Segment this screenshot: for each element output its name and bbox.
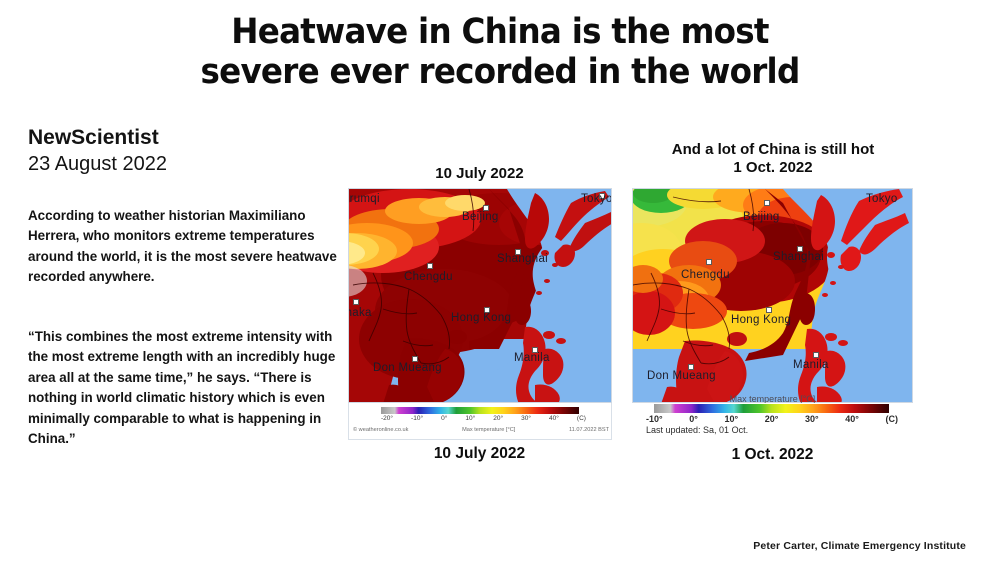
- city-label-hong-kong: Hong Kong: [731, 314, 791, 326]
- scale-tick: 30°: [521, 415, 531, 422]
- city-label-don-mueang: Don Mueang: [373, 362, 442, 374]
- city-label-manila: Manila: [514, 352, 550, 364]
- scale-tick: 0°: [441, 415, 447, 422]
- scale-tick: 10°: [465, 415, 475, 422]
- city-label-dhaka: Dhaka: [348, 307, 372, 319]
- left-map-scale-ticks: -20° -10° 0° 10° 20° 30° 40° (C): [381, 415, 586, 422]
- right-map-scale-ticks: -10° 0° 10° 20° 30° 40° (C): [646, 414, 898, 424]
- map-variable-label: Max temperature [°C]: [462, 427, 515, 433]
- article-paragraph: According to weather historian Maximilia…: [28, 206, 340, 288]
- city-label-manila: Manila: [793, 359, 829, 371]
- scale-tick: 20°: [493, 415, 503, 422]
- source-name: NewScientist: [28, 125, 338, 151]
- scale-tick: 30°: [805, 414, 819, 424]
- city-label-chengdu: Chengdu: [404, 271, 453, 283]
- source-date: 23 August 2022: [28, 151, 338, 177]
- page-title-line-1: Heatwave in China is the most: [175, 12, 826, 52]
- city-label-tokyo: Tokyo: [866, 193, 898, 205]
- city-dot-manila: [813, 352, 819, 358]
- map-timestamp: 11.07.2022 BST: [569, 427, 609, 433]
- city-dot-beijing: [764, 200, 770, 206]
- city-label-hong-kong: Hong Kong: [451, 312, 511, 324]
- right-map-image: Beijing Tokyo Shanghai Chengdu Hong Kong…: [632, 188, 913, 403]
- left-map-color-scale: [381, 407, 579, 414]
- city-label-urumqi: Urumqi: [348, 193, 380, 205]
- city-dot-hong-kong: [766, 307, 772, 313]
- city-dot-dhaka: [353, 299, 359, 305]
- right-map-title: And a lot of China is still hot 1 Oct. 2…: [628, 141, 918, 178]
- scale-tick: 40°: [549, 415, 559, 422]
- page-title-line-2: severe ever recorded in the world: [175, 52, 826, 92]
- right-map-date: 1 Oct. 2022: [628, 159, 918, 177]
- scale-tick: 0°: [689, 414, 698, 424]
- scale-tick: 20°: [765, 414, 779, 424]
- left-map-credits: © weatheronline.co.uk Max temperature [°…: [353, 427, 609, 433]
- page-title: Heatwave in China is the most severe eve…: [175, 12, 826, 93]
- right-map-color-scale: [654, 404, 889, 413]
- city-dot-chengdu: [427, 263, 433, 269]
- city-label-don-mueang: Don Mueang: [647, 370, 716, 382]
- city-label-beijing: Beijing: [743, 211, 780, 223]
- city-label-shanghai: Shanghai: [773, 251, 824, 263]
- scale-tick: -10°: [411, 415, 423, 422]
- city-label-shanghai: Shanghai: [497, 253, 548, 265]
- map-source-credit: © weatheronline.co.uk: [353, 427, 408, 433]
- scale-tick: -10°: [646, 414, 663, 424]
- right-map-last-updated: Last updated: Sa, 01 Oct.: [646, 425, 748, 435]
- scale-tick: (C): [577, 415, 586, 422]
- left-map-legend: -20° -10° 0° 10° 20° 30° 40° (C) © weath…: [348, 403, 612, 440]
- city-dot-chengdu: [706, 259, 712, 265]
- scale-tick: 40°: [845, 414, 859, 424]
- right-map-legend: -10° 0° 10° 20° 30° 40° (C) Last updated…: [632, 403, 913, 436]
- left-map-title: 10 July 2022: [352, 165, 607, 183]
- city-label-tokyo: Tokyo: [581, 193, 612, 205]
- left-map-image: Urumqi Beijing Tokyo Shanghai Chengdu Ho…: [348, 188, 612, 403]
- scale-tick: -20°: [381, 415, 393, 422]
- city-label-chengdu: Chengdu: [681, 269, 730, 281]
- left-map-caption: 10 July 2022: [352, 445, 607, 464]
- scale-tick: (C): [885, 414, 898, 424]
- scale-tick: 10°: [724, 414, 738, 424]
- attribution: Peter Carter, Climate Emergency Institut…: [753, 540, 966, 552]
- article-quote: “This combines the most extreme intensit…: [28, 327, 340, 449]
- source-block: NewScientist 23 August 2022: [28, 125, 338, 177]
- right-map-caption: 1 Oct. 2022: [640, 446, 905, 465]
- right-map-headline: And a lot of China is still hot: [628, 141, 918, 159]
- city-label-beijing: Beijing: [462, 211, 499, 223]
